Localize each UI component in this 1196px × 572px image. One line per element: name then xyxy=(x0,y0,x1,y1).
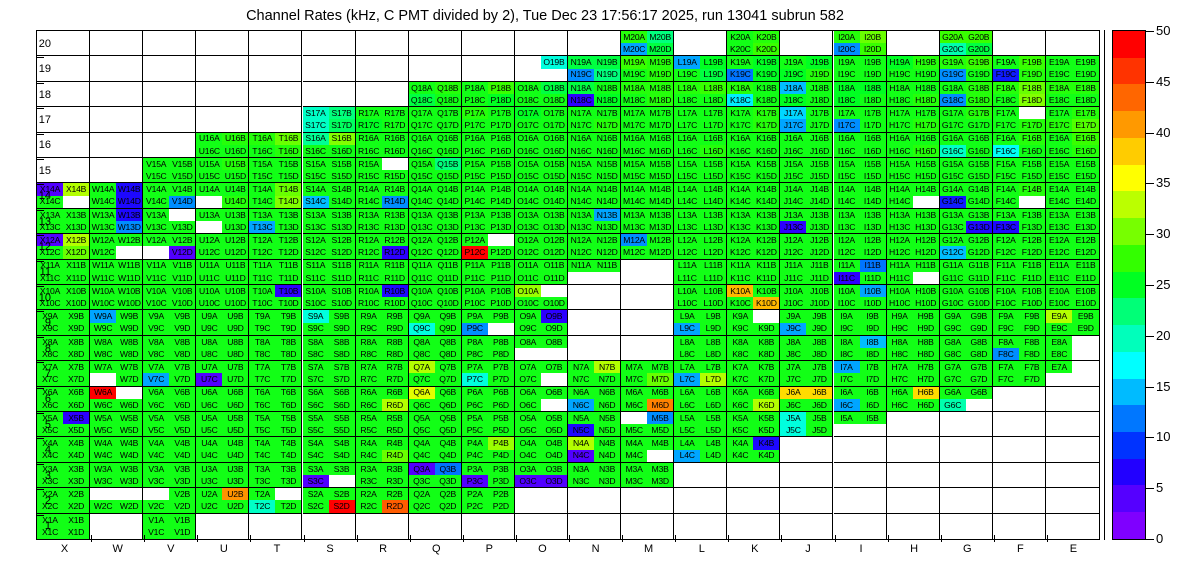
channel-P7C[interactable]: P7C xyxy=(462,373,488,385)
channel-W13C[interactable]: W13C xyxy=(90,221,116,233)
channel-F17A[interactable]: F17A xyxy=(993,107,1019,119)
channel-P17A[interactable]: P17A xyxy=(462,107,488,119)
channel-E13C[interactable]: E13C xyxy=(1046,221,1073,233)
channel-E10B[interactable]: E10B xyxy=(1072,285,1099,297)
channel-K10A[interactable]: K10A xyxy=(727,285,753,297)
channel-T13D[interactable]: T13D xyxy=(275,221,301,233)
module-E10[interactable]: E10AE10BE10CE10D xyxy=(1046,285,1099,310)
channel-L11C[interactable]: L11C xyxy=(674,272,700,284)
channel-F9A[interactable]: F9A xyxy=(993,310,1019,322)
channel-X8D[interactable]: X8D xyxy=(63,348,89,360)
channel-F16A[interactable]: F16A xyxy=(993,133,1019,145)
channel-L17A[interactable]: L17A xyxy=(674,107,700,119)
channel-N7D[interactable]: N7D xyxy=(594,373,620,385)
module-P9[interactable]: P9AP9BP9C xyxy=(462,310,515,335)
channel-F18C[interactable]: F18C xyxy=(993,94,1019,106)
channel-R14A[interactable]: R14A xyxy=(356,183,382,195)
module-O17[interactable]: O17AO17BO17CO17D xyxy=(515,107,568,132)
module-S6[interactable]: S6AS6BS6CS6D xyxy=(303,387,356,412)
channel-I9C[interactable]: I9C xyxy=(834,323,860,335)
channel-L8A[interactable]: L8A xyxy=(674,336,700,348)
module-P2[interactable]: P2AP2BP2CP2D xyxy=(462,488,515,513)
channel-T8B[interactable]: T8B xyxy=(275,336,301,348)
channel-V9A[interactable]: V9A xyxy=(143,310,169,322)
channel-H9D[interactable]: H9D xyxy=(913,323,939,335)
channel-F9C[interactable]: F9C xyxy=(993,323,1019,335)
channel-K6A[interactable]: K6A xyxy=(727,387,753,399)
channel-W4D[interactable]: W4D xyxy=(116,450,142,462)
channel-K10C[interactable]: K10C xyxy=(727,297,753,309)
module-K5[interactable]: K5AK5BK5CK5D xyxy=(727,412,780,437)
channel-M4B[interactable]: M4B xyxy=(647,437,673,449)
channel-I15D[interactable]: I15D xyxy=(860,170,886,182)
channel-N18B[interactable]: N18B xyxy=(594,82,620,94)
module-Q9[interactable]: Q9AQ9BQ9CQ9D xyxy=(409,310,462,335)
channel-T10C[interactable]: T10C xyxy=(249,297,275,309)
channel-H13C[interactable]: H13C xyxy=(887,221,913,233)
channel-O17C[interactable]: O17C xyxy=(515,119,541,131)
module-J4[interactable] xyxy=(780,437,833,462)
channel-J13C[interactable]: J13C xyxy=(780,221,806,233)
channel-S16B[interactable]: S16B xyxy=(329,133,355,145)
channel-T3C[interactable]: T3C xyxy=(249,475,275,487)
module-V5[interactable]: V5AV5BV5CV5D xyxy=(143,412,196,437)
channel-H10B[interactable]: H10B xyxy=(913,285,939,297)
channel-N15B[interactable]: N15B xyxy=(594,158,620,170)
channel-R8C[interactable]: R8C xyxy=(356,348,382,360)
channel-T14D[interactable]: T14D xyxy=(275,196,301,208)
channel-Q13C[interactable]: Q13C xyxy=(409,221,435,233)
channel-N18D[interactable]: N18D xyxy=(594,94,620,106)
module-P18[interactable]: P18AP18BP18CP18D xyxy=(462,82,515,107)
module-N17[interactable]: N17AN17BN17CN17D xyxy=(568,107,621,132)
channel-Q11A[interactable]: Q11A xyxy=(409,260,435,272)
channel-R13D[interactable]: R13D xyxy=(382,221,408,233)
channel-L14D[interactable]: L14D xyxy=(700,196,726,208)
channel-W2D[interactable]: W2D xyxy=(116,500,142,512)
channel-O11A[interactable]: O11A xyxy=(515,260,541,272)
channel-U7B[interactable]: U7B xyxy=(222,361,248,373)
channel-M15B[interactable]: M15B xyxy=(647,158,673,170)
channel-J16A[interactable]: J16A xyxy=(780,133,806,145)
module-J15[interactable]: J15AJ15BJ15CJ15D xyxy=(780,158,833,183)
channel-M13A[interactable]: M13A xyxy=(621,209,647,221)
channel-J14B[interactable]: J14B xyxy=(806,183,832,195)
channel-G9D[interactable]: G9D xyxy=(966,323,992,335)
module-W15[interactable] xyxy=(90,158,143,183)
channel-R2D[interactable]: R2D xyxy=(382,500,408,512)
channel-R16C[interactable]: R16C xyxy=(356,145,382,157)
channel-L6D[interactable]: L6D xyxy=(700,399,726,411)
channel-O17B[interactable]: O17B xyxy=(541,107,567,119)
channel-J5D[interactable]: J5D xyxy=(806,424,832,436)
channel-L14C[interactable]: L14C xyxy=(674,196,700,208)
module-R13[interactable]: R13AR13BR13CR13D xyxy=(356,209,409,234)
channel-H18D[interactable]: H18D xyxy=(913,94,939,106)
channel-M17C[interactable]: M17C xyxy=(621,119,647,131)
channel-T8D[interactable]: T8D xyxy=(275,348,301,360)
channel-O15D[interactable]: O15D xyxy=(541,170,567,182)
channel-M6B[interactable]: M6B xyxy=(647,387,673,399)
module-W19[interactable] xyxy=(90,56,143,81)
module-O10[interactable]: O10AO10CO10D xyxy=(515,285,568,310)
channel-U11C[interactable]: U11C xyxy=(196,272,222,284)
module-U16[interactable]: U16AU16BU16CU16D xyxy=(196,133,249,158)
channel-Q9A[interactable]: Q9A xyxy=(409,310,435,322)
channel-G15C[interactable]: G15C xyxy=(940,170,966,182)
channel-U15B[interactable]: U15B xyxy=(222,158,248,170)
module-R3[interactable]: R3AR3BR3CR3D xyxy=(356,463,409,488)
module-N6[interactable]: N6AN6BN6CN6D xyxy=(568,387,621,412)
module-K9[interactable]: K9AK9CK9D xyxy=(727,310,780,335)
module-O18[interactable]: O18AO18BO18CO18D xyxy=(515,82,568,107)
channel-G20A[interactable]: G20A xyxy=(940,31,966,43)
module-K12[interactable]: K12AK12BK12CK12D xyxy=(727,234,780,259)
module-O8[interactable]: O8AO8B xyxy=(515,336,568,361)
channel-P12D[interactable]: P12D xyxy=(488,246,514,258)
channel-X3B[interactable]: X3B xyxy=(63,463,89,475)
channel-N18A[interactable]: N18A xyxy=(568,82,594,94)
channel-Q2A[interactable]: Q2A xyxy=(409,488,435,500)
module-S14[interactable]: S14AS14BS14CS14D xyxy=(303,183,356,208)
channel-F12A[interactable]: F12A xyxy=(993,234,1019,246)
channel-S2B[interactable]: S2B xyxy=(329,488,355,500)
channel-M3B[interactable]: M3B xyxy=(647,463,673,475)
channel-L19A[interactable]: L19A xyxy=(674,56,700,68)
channel-Q6B[interactable]: Q6B xyxy=(435,387,461,399)
module-J18[interactable]: J18AJ18BJ18CJ18D xyxy=(780,82,833,107)
channel-S10B[interactable]: S10B xyxy=(329,285,355,297)
channel-G7D[interactable]: G7D xyxy=(966,373,992,385)
channel-L9A[interactable]: L9A xyxy=(674,310,700,322)
channel-U12C[interactable]: U12C xyxy=(196,246,222,258)
channel-G7B[interactable]: G7B xyxy=(966,361,992,373)
channel-O5A[interactable]: O5A xyxy=(515,412,541,424)
channel-K8C[interactable]: K8C xyxy=(727,348,753,360)
channel-G19B[interactable]: G19B xyxy=(966,56,992,68)
channel-V7C[interactable]: V7C xyxy=(143,373,169,385)
channel-H6C[interactable]: H6C xyxy=(887,399,913,411)
module-W18[interactable] xyxy=(90,82,143,107)
channel-K12A[interactable]: K12A xyxy=(727,234,753,246)
module-M2[interactable] xyxy=(621,488,674,513)
channel-I9D[interactable]: I9D xyxy=(860,323,886,335)
channel-V1C[interactable]: V1C xyxy=(143,526,169,539)
channel-L14B[interactable]: L14B xyxy=(700,183,726,195)
channel-J5C[interactable]: J5C xyxy=(780,424,806,436)
channel-E11A[interactable]: E11A xyxy=(1046,260,1073,272)
module-N13[interactable]: N13AN13BN13CN13D xyxy=(568,209,621,234)
channel-E19C[interactable]: E19C xyxy=(1046,69,1073,81)
channel-V15D[interactable]: V15D xyxy=(169,170,195,182)
channel-I7A[interactable]: I7A xyxy=(834,361,860,373)
channel-L16A[interactable]: L16A xyxy=(674,133,700,145)
channel-K16A[interactable]: K16A xyxy=(727,133,753,145)
channel-I10D[interactable]: I10D xyxy=(860,297,886,309)
channel-T5A[interactable]: T5A xyxy=(249,412,275,424)
channel-L8C[interactable]: L8C xyxy=(674,348,700,360)
channel-Q5D[interactable]: Q5D xyxy=(435,424,461,436)
module-S7[interactable]: S7AS7BS7CS7D xyxy=(303,361,356,386)
channel-K16D[interactable]: K16D xyxy=(753,145,779,157)
channel-S11D[interactable]: S11D xyxy=(329,272,355,284)
module-T6[interactable]: T6AT6BT6CT6D xyxy=(249,387,302,412)
channel-R3A[interactable]: R3A xyxy=(356,463,382,475)
module-R15[interactable]: R15AR15CR15D xyxy=(356,158,409,183)
channel-W12C[interactable]: W12C xyxy=(90,246,116,258)
module-Q7[interactable]: Q7AQ7BQ7CQ7D xyxy=(409,361,462,386)
channel-H18B[interactable]: H18B xyxy=(913,82,939,94)
channel-R3C[interactable]: R3C xyxy=(356,475,382,487)
channel-W10B[interactable]: W10B xyxy=(116,285,142,297)
channel-J13A[interactable]: J13A xyxy=(780,209,806,221)
channel-T4C[interactable]: T4C xyxy=(249,450,275,462)
channel-P8A[interactable]: P8A xyxy=(462,336,488,348)
channel-Q5B[interactable]: Q5B xyxy=(435,412,461,424)
channel-N4D[interactable]: N4D xyxy=(594,450,620,462)
channel-L19C[interactable]: L19C xyxy=(674,69,700,81)
channel-P10D[interactable]: P10D xyxy=(488,297,514,309)
channel-Q10B[interactable]: Q10B xyxy=(435,285,461,297)
channel-U6A[interactable]: U6A xyxy=(196,387,222,399)
module-M8[interactable] xyxy=(621,336,674,361)
channel-J8D[interactable]: J8D xyxy=(806,348,832,360)
channel-V10C[interactable]: V10C xyxy=(143,297,169,309)
channel-X8B[interactable]: X8B xyxy=(63,336,89,348)
channel-P11C[interactable]: P11C xyxy=(462,272,488,284)
channel-I10A[interactable]: I10A xyxy=(834,285,860,297)
channel-M20C[interactable]: M20C xyxy=(621,43,647,55)
channel-E10C[interactable]: E10C xyxy=(1046,297,1073,309)
channel-P2C[interactable]: P2C xyxy=(462,500,488,512)
channel-F7B[interactable]: F7B xyxy=(1019,361,1045,373)
channel-I5A[interactable]: I5A xyxy=(834,412,860,424)
channel-V9D[interactable]: V9D xyxy=(169,323,195,335)
channel-J11A[interactable]: J11A xyxy=(780,260,806,272)
module-I15[interactable]: I15AI15BI15CI15D xyxy=(834,158,887,183)
channel-J16D[interactable]: J16D xyxy=(806,145,832,157)
module-Q4[interactable]: Q4AQ4BQ4CQ4D xyxy=(409,437,462,462)
channel-I7B[interactable]: I7B xyxy=(860,361,886,373)
module-H5[interactable] xyxy=(887,412,940,437)
channel-P4D[interactable]: P4D xyxy=(488,450,514,462)
channel-P13B[interactable]: P13B xyxy=(488,209,514,221)
module-N7[interactable]: N7AN7BN7CN7D xyxy=(568,361,621,386)
channel-F14B[interactable]: F14B xyxy=(1019,183,1045,195)
channel-M15C[interactable]: M15C xyxy=(621,170,647,182)
module-H20[interactable] xyxy=(887,31,940,56)
channel-F15D[interactable]: F15D xyxy=(1019,170,1045,182)
channel-V9C[interactable]: V9C xyxy=(143,323,169,335)
channel-V3A[interactable]: V3A xyxy=(143,463,169,475)
module-F3[interactable] xyxy=(993,463,1046,488)
channel-U5B[interactable]: U5B xyxy=(222,412,248,424)
channel-N6D[interactable]: N6D xyxy=(594,399,620,411)
module-N16[interactable]: N16AN16BN16CN16D xyxy=(568,133,621,158)
channel-K13D[interactable]: K13D xyxy=(753,221,779,233)
channel-R4A[interactable]: R4A xyxy=(356,437,382,449)
channel-I15C[interactable]: I15C xyxy=(834,170,860,182)
module-K16[interactable]: K16AK16BK16CK16D xyxy=(727,133,780,158)
channel-L4D[interactable]: L4D xyxy=(700,450,726,462)
module-T15[interactable]: T15AT15BT15CT15D xyxy=(249,158,302,183)
module-R4[interactable]: R4AR4BR4CR4D xyxy=(356,437,409,462)
channel-W13A[interactable]: W13A xyxy=(90,209,116,221)
channel-N13A[interactable]: N13A xyxy=(568,209,594,221)
channel-L5A[interactable]: L5A xyxy=(674,412,700,424)
channel-P16B[interactable]: P16B xyxy=(488,133,514,145)
channel-V2B[interactable]: V2B xyxy=(169,488,195,500)
channel-W9B[interactable]: W9B xyxy=(116,310,142,322)
channel-U2D[interactable]: U2D xyxy=(222,500,248,512)
channel-V7B[interactable]: V7B xyxy=(169,361,195,373)
channel-I19B[interactable]: I19B xyxy=(860,56,886,68)
channel-M7B[interactable]: M7B xyxy=(647,361,673,373)
channel-R15A[interactable]: R15A xyxy=(356,158,382,170)
channel-G11A[interactable]: G11A xyxy=(940,260,966,272)
channel-P17B[interactable]: P17B xyxy=(488,107,514,119)
channel-O4A[interactable]: O4A xyxy=(515,437,541,449)
channel-V14D[interactable]: V14D xyxy=(169,196,195,208)
module-E18[interactable]: E18AE18BE18CE18D xyxy=(1046,82,1099,107)
channel-G13B[interactable]: G13B xyxy=(966,209,992,221)
channel-K12B[interactable]: K12B xyxy=(753,234,779,246)
channel-W9D[interactable]: W9D xyxy=(116,323,142,335)
channel-L10B[interactable]: L10B xyxy=(700,285,726,297)
module-T2[interactable]: T2AT2CT2D xyxy=(249,488,302,513)
channel-I16A[interactable]: I16A xyxy=(834,133,860,145)
channel-I14C[interactable]: I14C xyxy=(834,196,860,208)
channel-Q5A[interactable]: Q5A xyxy=(409,412,435,424)
channel-J15A[interactable]: J15A xyxy=(780,158,806,170)
channel-H14B[interactable]: H14B xyxy=(913,183,939,195)
module-V8[interactable]: V8AV8BV8CV8D xyxy=(143,336,196,361)
channel-M14D[interactable]: M14D xyxy=(647,196,673,208)
channel-T16C[interactable]: T16C xyxy=(249,145,275,157)
channel-R13A[interactable]: R13A xyxy=(356,209,382,221)
channel-W3D[interactable]: W3D xyxy=(116,475,142,487)
module-F12[interactable]: F12AF12BF12CF12D xyxy=(993,234,1046,259)
channel-T14B[interactable]: T14B xyxy=(275,183,301,195)
channel-G16A[interactable]: G16A xyxy=(940,133,966,145)
channel-U3A[interactable]: U3A xyxy=(196,463,222,475)
detector-grid[interactable]: M20AM20BM20CM20DK20AK20BK20CK20DI20AI20B… xyxy=(36,30,1100,540)
module-G17[interactable]: G17AG17BG17CG17D xyxy=(940,107,993,132)
channel-J6C[interactable]: J6C xyxy=(780,399,806,411)
channel-W14B[interactable]: W14B xyxy=(116,183,142,195)
channel-M13D[interactable]: M13D xyxy=(647,221,673,233)
channel-L15B[interactable]: L15B xyxy=(700,158,726,170)
channel-M5C[interactable]: M5C xyxy=(621,424,647,436)
module-S5[interactable]: S5AS5BS5CS5D xyxy=(303,412,356,437)
module-S19[interactable] xyxy=(303,56,356,81)
channel-O16B[interactable]: O16B xyxy=(541,133,567,145)
channel-N3A[interactable]: N3A xyxy=(568,463,594,475)
module-U18[interactable] xyxy=(196,82,249,107)
channel-P11D[interactable]: P11D xyxy=(488,272,514,284)
module-G14[interactable]: G14AG14BG14CG14D xyxy=(940,183,993,208)
channel-G16B[interactable]: G16B xyxy=(966,133,992,145)
module-R18[interactable] xyxy=(356,82,409,107)
channel-P5B[interactable]: P5B xyxy=(488,412,514,424)
channel-O3D[interactable]: O3D xyxy=(541,475,567,487)
channel-Q11B[interactable]: Q11B xyxy=(435,260,461,272)
channel-J12D[interactable]: J12D xyxy=(806,246,832,258)
channel-G9B[interactable]: G9B xyxy=(966,310,992,322)
channel-K20D[interactable]: K20D xyxy=(753,43,779,55)
channel-U11D[interactable]: U11D xyxy=(222,272,248,284)
channel-N12B[interactable]: N12B xyxy=(594,234,620,246)
module-K18[interactable]: K18AK18BK18CK18D xyxy=(727,82,780,107)
channel-L13C[interactable]: L13C xyxy=(674,221,700,233)
channel-U3C[interactable]: U3C xyxy=(196,475,222,487)
module-L4[interactable]: L4AL4BL4CL4D xyxy=(674,437,727,462)
channel-T11A[interactable]: T11A xyxy=(249,260,275,272)
channel-R17D[interactable]: R17D xyxy=(382,119,408,131)
channel-T4B[interactable]: T4B xyxy=(275,437,301,449)
channel-F10B[interactable]: F10B xyxy=(1019,285,1045,297)
channel-F11C[interactable]: F11C xyxy=(993,272,1019,284)
module-V3[interactable]: V3AV3BV3CV3D xyxy=(143,463,196,488)
module-H15[interactable]: H15AH15BH15CH15D xyxy=(887,158,940,183)
channel-G8D[interactable]: G8D xyxy=(966,348,992,360)
channel-Q17C[interactable]: Q17C xyxy=(409,119,435,131)
channel-L9D[interactable]: L9D xyxy=(700,323,726,335)
channel-F10C[interactable]: F10C xyxy=(993,297,1019,309)
channel-T16A[interactable]: T16A xyxy=(249,133,275,145)
module-L15[interactable]: L15AL15BL15CL15D xyxy=(674,158,727,183)
module-L18[interactable]: L18AL18BL18CL18D xyxy=(674,82,727,107)
channel-L17C[interactable]: L17C xyxy=(674,119,700,131)
channel-L6A[interactable]: L6A xyxy=(674,387,700,399)
channel-E9D[interactable]: E9D xyxy=(1072,323,1099,335)
channel-J15D[interactable]: J15D xyxy=(806,170,832,182)
channel-M17B[interactable]: M17B xyxy=(647,107,673,119)
channel-H17B[interactable]: H17B xyxy=(913,107,939,119)
channel-X13B[interactable]: X13B xyxy=(63,209,89,221)
channel-M14A[interactable]: M14A xyxy=(621,183,647,195)
channel-W8A[interactable]: W8A xyxy=(90,336,116,348)
channel-R11D[interactable]: R11D xyxy=(382,272,408,284)
module-T17[interactable] xyxy=(249,107,302,132)
channel-Q14D[interactable]: Q14D xyxy=(435,196,461,208)
channel-S6C[interactable]: S6C xyxy=(303,399,329,411)
channel-H8A[interactable]: H8A xyxy=(887,336,913,348)
module-O6[interactable]: O6AO6BO6C xyxy=(515,387,568,412)
channel-H14C[interactable]: H14C xyxy=(887,196,913,208)
channel-G14B[interactable]: G14B xyxy=(966,183,992,195)
channel-O10C[interactable]: O10C xyxy=(515,297,541,309)
channel-O4C[interactable]: O4C xyxy=(515,450,541,462)
channel-I18A[interactable]: I18A xyxy=(834,82,860,94)
channel-H19C[interactable]: H19C xyxy=(887,69,913,81)
channel-K17D[interactable]: K17D xyxy=(753,119,779,131)
channel-K17C[interactable]: K17C xyxy=(727,119,753,131)
channel-P8C[interactable]: P8C xyxy=(462,348,488,360)
module-F10[interactable]: F10AF10BF10CF10D xyxy=(993,285,1046,310)
channel-K5D[interactable]: K5D xyxy=(753,424,779,436)
channel-L15C[interactable]: L15C xyxy=(674,170,700,182)
module-T12[interactable]: T12AT12BT12CT12D xyxy=(249,234,302,259)
channel-L18C[interactable]: L18C xyxy=(674,94,700,106)
channel-P18B[interactable]: P18B xyxy=(488,82,514,94)
channel-U6B[interactable]: U6B xyxy=(222,387,248,399)
module-W8[interactable]: W8AW8BW8CW8D xyxy=(90,336,143,361)
channel-Q7A[interactable]: Q7A xyxy=(409,361,435,373)
module-J6[interactable]: J6AJ6BJ6CJ6D xyxy=(780,387,833,412)
channel-J19B[interactable]: J19B xyxy=(806,56,832,68)
channel-K17B[interactable]: K17B xyxy=(753,107,779,119)
